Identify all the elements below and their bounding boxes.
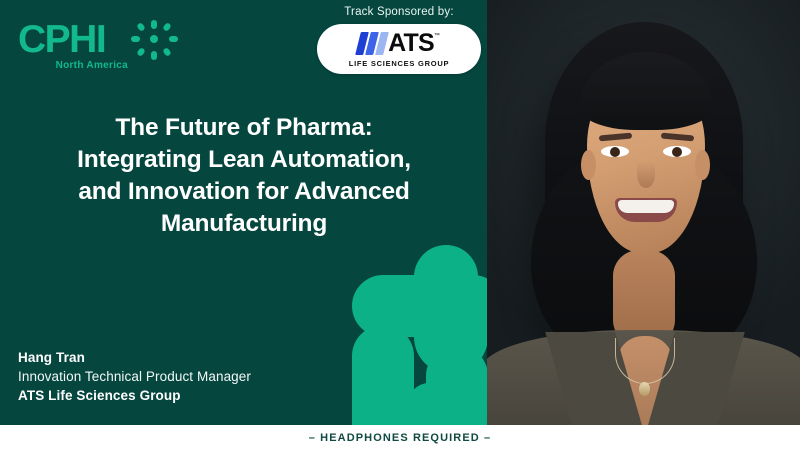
footer-bar: – HEADPHONES REQUIRED – (0, 425, 800, 450)
portrait-ear-left (581, 150, 596, 180)
portrait-ear-right (695, 150, 710, 180)
speaker-portrait (487, 0, 800, 425)
speaker-role: Innovation Technical Product Manager (18, 367, 251, 386)
session-title-line-3: and Innovation for Advanced (24, 176, 464, 208)
sponsor-block: Track Sponsored by: ATS ™ LIFE SCIENCES … (311, 6, 487, 74)
portrait-eye-right (663, 146, 691, 157)
ats-logo-subtitle: LIFE SCIENCES GROUP (349, 59, 450, 68)
session-title-line-2: Integrating Lean Automation, (24, 144, 464, 176)
session-title-line-4: Manufacturing (24, 208, 464, 240)
session-slide: CPHI North America Track Sponsored by: (0, 0, 800, 450)
content-panel: CPHI North America Track Sponsored by: (0, 0, 487, 425)
headphones-notice: – HEADPHONES REQUIRED – (309, 432, 491, 444)
portrait-eye-left (601, 146, 629, 157)
portrait-necklace-pendant (639, 382, 650, 396)
speaker-name: Hang Tran (18, 348, 251, 367)
session-title: The Future of Pharma: Integrating Lean A… (24, 112, 464, 240)
cphi-logo-subtitle: North America (18, 60, 128, 71)
speaker-credit: Hang Tran Innovation Technical Product M… (18, 348, 251, 405)
ats-bars-icon (358, 32, 386, 55)
ats-logo-badge: ATS ™ LIFE SCIENCES GROUP (317, 24, 481, 74)
cphi-logo: CPHI North America (18, 20, 168, 78)
portrait-nose (637, 162, 655, 188)
speaker-organization: ATS Life Sciences Group (18, 386, 251, 405)
portrait-teeth (618, 200, 674, 213)
portrait-mouth (615, 198, 677, 222)
ats-logo-wordmark: ATS (388, 31, 434, 56)
trademark-symbol: ™ (434, 33, 440, 39)
sponsor-label: Track Sponsored by: (311, 6, 487, 18)
starburst-icon (131, 20, 177, 64)
session-title-line-1: The Future of Pharma: (24, 112, 464, 144)
